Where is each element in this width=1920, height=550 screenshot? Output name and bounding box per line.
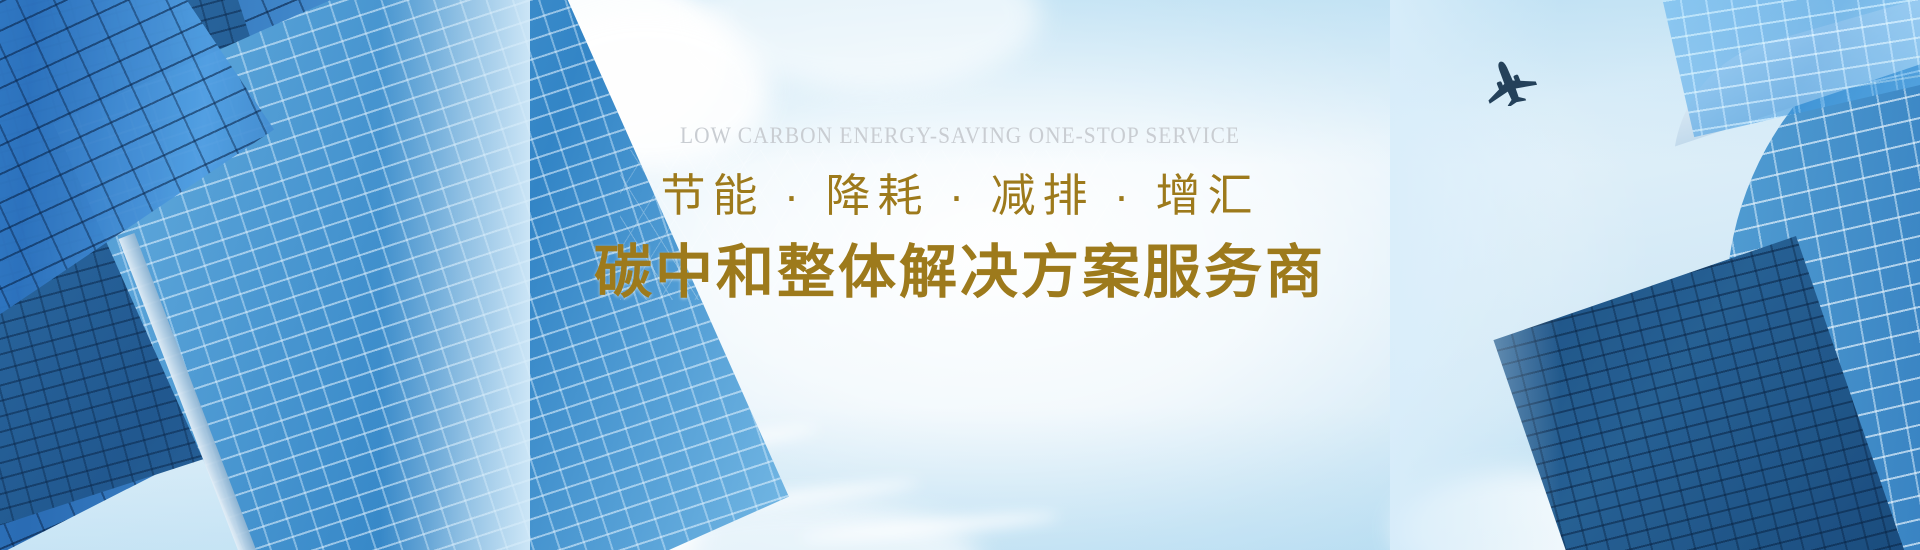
headline-main: 碳中和整体解决方案服务商 [0, 244, 1920, 302]
airplane-icon [1478, 58, 1540, 106]
tagline-english: LOW CARBON ENERGY-SAVING ONE-STOP SERVIC… [67, 124, 1853, 147]
hero-banner: LOW CARBON ENERGY-SAVING ONE-STOP SERVIC… [0, 0, 1920, 550]
headline-subtitle: 节能 · 降耗 · 减排 · 增汇 [0, 173, 1920, 218]
hero-copy: LOW CARBON ENERGY-SAVING ONE-STOP SERVIC… [0, 124, 1920, 302]
